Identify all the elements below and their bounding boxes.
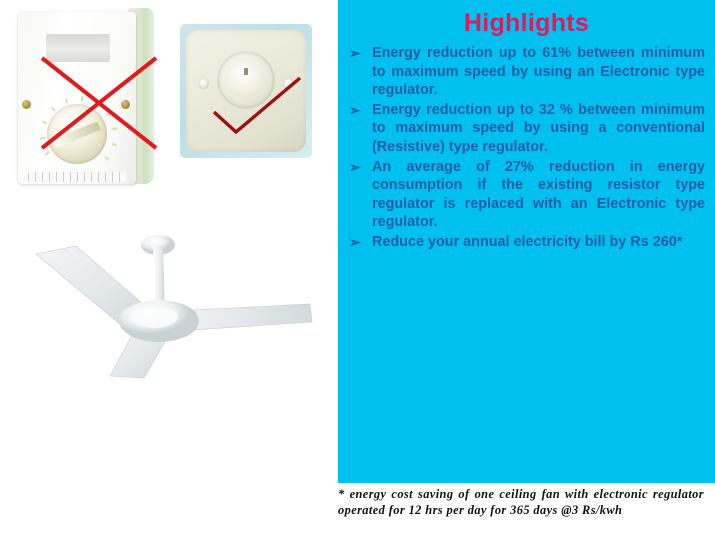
list-item: ➢ Energy reduction up to 32 % between mi…	[344, 101, 705, 157]
regulator-knob-ring	[218, 52, 274, 108]
regulator-face-plate	[186, 30, 306, 152]
highlights-bullet-list: ➢ Energy reduction up to 61% between min…	[338, 44, 715, 252]
fan-motor-highlight	[130, 306, 178, 328]
list-item-text: Energy reduction up to 32 % between mini…	[372, 102, 705, 155]
bullet-arrow-icon: ➢	[349, 158, 361, 177]
regulator-display-window	[46, 34, 110, 62]
highlights-panel: Highlights ➢ Energy reduction up to 61% …	[338, 0, 715, 483]
list-item: ➢ An average of 27% reduction in energy …	[344, 158, 705, 232]
regulator-mount-screw-left	[198, 78, 209, 89]
bullet-arrow-icon: ➢	[349, 233, 361, 252]
list-item: ➢ Energy reduction up to 61% between min…	[344, 44, 705, 100]
regulator-mount-screw-right	[283, 78, 294, 89]
fan-blade-2	[192, 304, 312, 330]
electronic-regulator-image	[180, 24, 312, 158]
list-item-text: An average of 27% reduction in energy co…	[372, 159, 705, 231]
bullet-arrow-icon: ➢	[349, 44, 361, 63]
regulator-knob-pointer	[244, 68, 248, 75]
resistive-regulator-image	[18, 6, 163, 191]
regulator-screw-right	[121, 100, 130, 109]
list-item-text: Energy reduction up to 61% between minim…	[372, 45, 705, 98]
regulator-body	[18, 12, 136, 184]
regulator-screw-left	[22, 100, 31, 109]
regulator-vent-slots	[28, 172, 126, 182]
list-item: ➢ Reduce your annual electricity bill by…	[344, 233, 705, 252]
bullet-arrow-icon: ➢	[349, 101, 361, 120]
page-title: Highlights	[338, 0, 715, 44]
ceiling-fan-image	[14, 218, 314, 408]
regulator-rotary-knob	[47, 104, 107, 164]
slide-canvas: Highlights ➢ Energy reduction up to 61% …	[0, 0, 715, 538]
list-item-text: Reduce your annual electricity bill by R…	[372, 234, 682, 250]
footnote-text: * energy cost saving of one ceiling fan …	[338, 487, 704, 518]
